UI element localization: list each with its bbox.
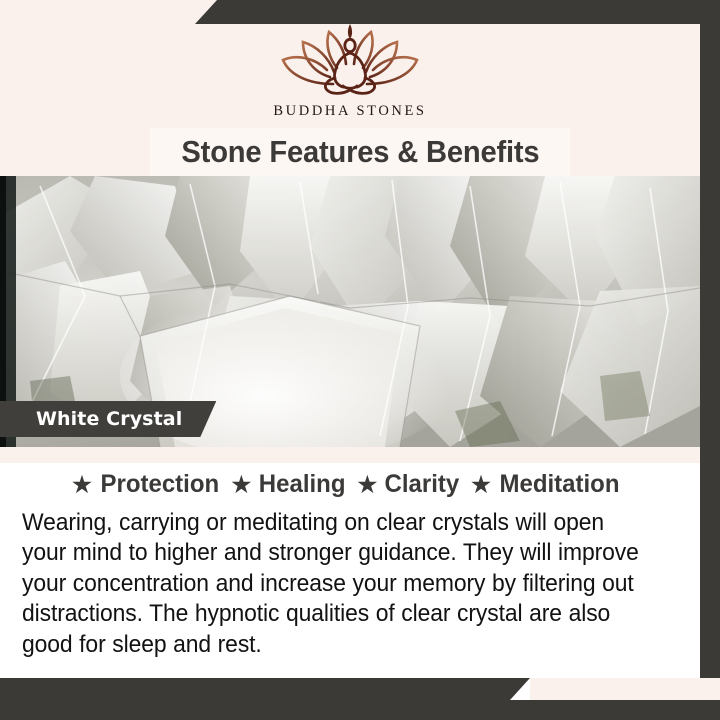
frame-bottom-wedge	[0, 678, 530, 700]
star-icon: ★	[232, 474, 252, 496]
stone-name-badge: White Crystal	[0, 401, 216, 437]
accent-strip	[0, 447, 700, 463]
top-diagonal-accent	[195, 0, 700, 24]
poster-root: BUDDHA STONES Stone Features & Benefits	[0, 0, 720, 720]
header-section: BUDDHA STONES Stone Features & Benefits	[0, 0, 700, 176]
star-icon: ★	[72, 474, 92, 496]
benefit-healing: Healing	[259, 470, 346, 499]
frame-bottom-accent	[530, 678, 720, 700]
stone-name-text: White Crystal	[36, 408, 182, 430]
star-icon: ★	[471, 474, 491, 496]
content-section: ★ Protection ★ Healing ★ Clarity ★ Medit…	[0, 463, 700, 700]
benefits-row: ★ Protection ★ Healing ★ Clarity ★ Medit…	[22, 463, 678, 499]
description-text: Wearing, carrying or meditating on clear…	[22, 508, 658, 660]
page-title: Stone Features & Benefits	[181, 134, 539, 170]
brand-logo-block: BUDDHA STONES	[0, 22, 700, 120]
benefit-meditation: Meditation	[499, 470, 619, 499]
page-title-band: Stone Features & Benefits	[150, 128, 570, 176]
frame-edge-bottom	[0, 700, 720, 720]
benefit-clarity: Clarity	[385, 470, 460, 499]
brand-name: BUDDHA STONES	[273, 103, 426, 120]
lotus-meditation-icon	[275, 22, 425, 100]
star-icon: ★	[358, 474, 378, 496]
frame-edge-right	[700, 0, 720, 720]
benefit-protection: Protection	[100, 470, 219, 499]
